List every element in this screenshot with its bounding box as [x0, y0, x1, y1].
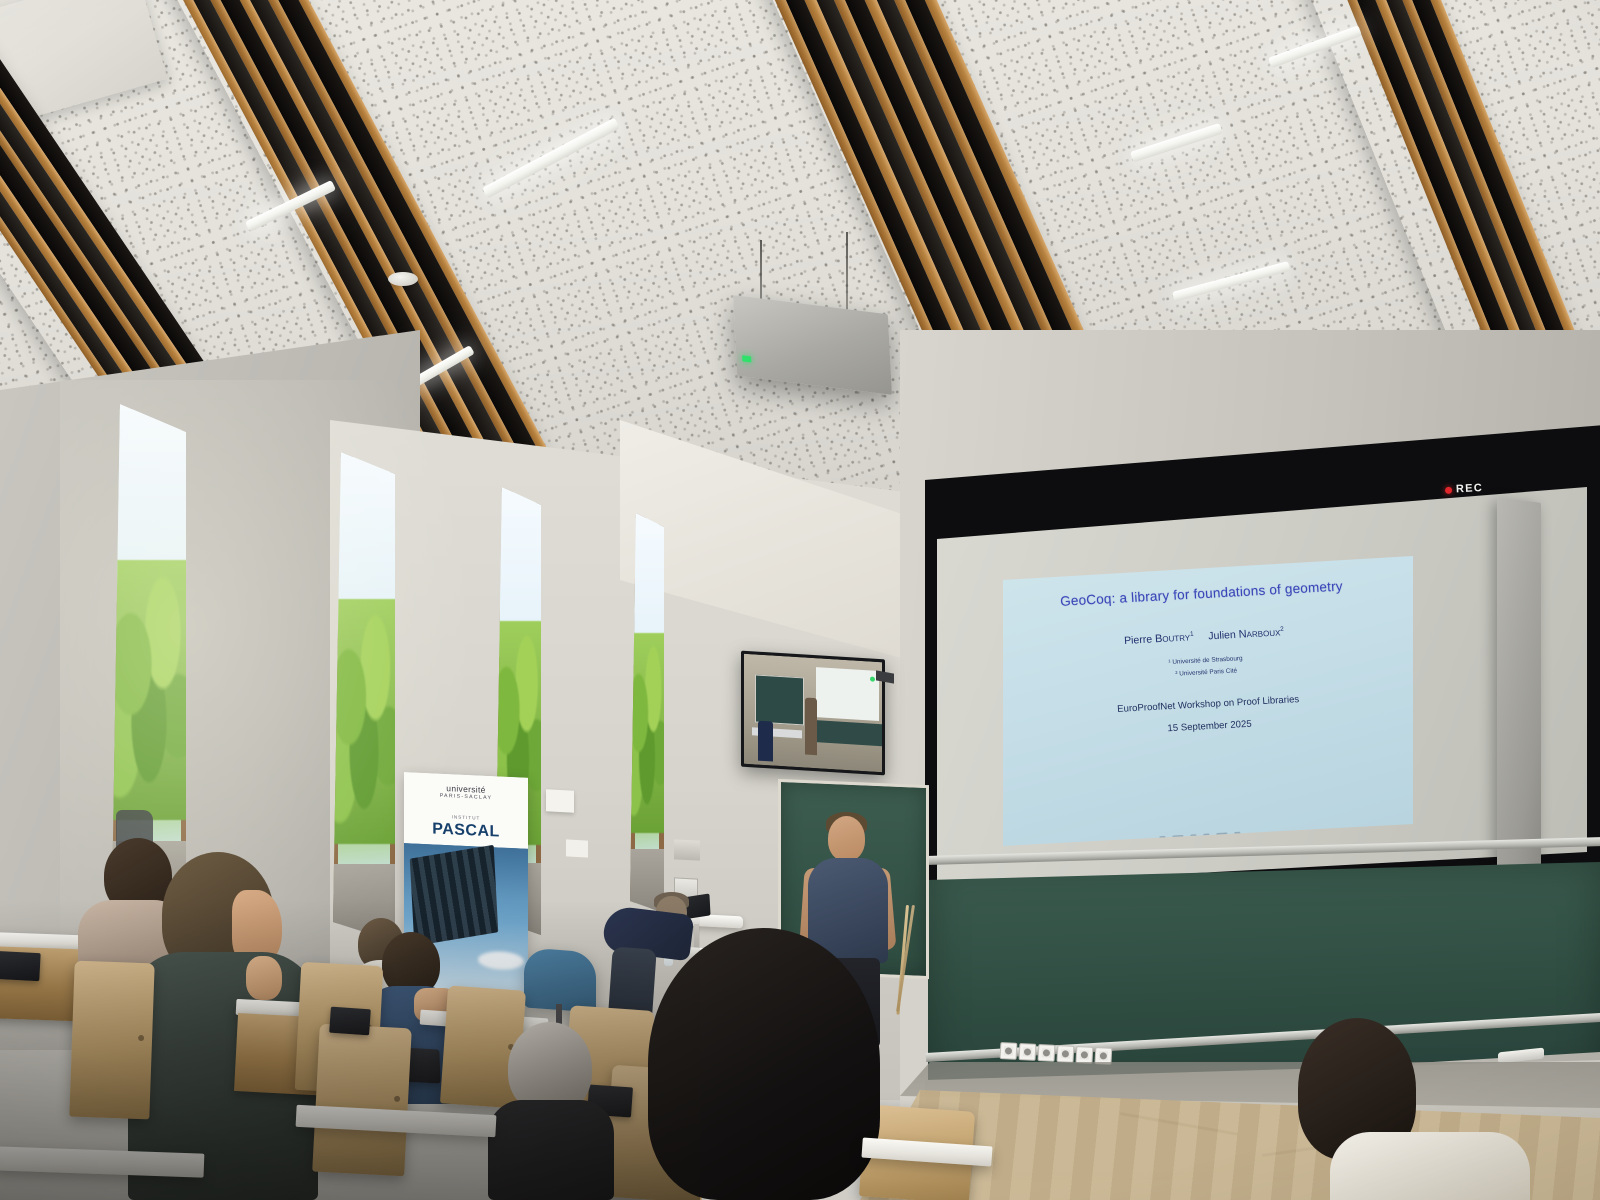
wall-socket[interactable] [1000, 1042, 1018, 1060]
monitor-feed-projection-screen [816, 667, 879, 721]
wall-notice-paper-2 [566, 839, 588, 857]
wall-socket[interactable] [1019, 1043, 1037, 1061]
speaker-status-led [742, 355, 751, 362]
window-foliage [112, 560, 186, 820]
presentation-slide: GeoCoq: a library for foundations of geo… [1003, 556, 1413, 846]
lecture-hall-photo: université PARIS-SACLAY INSTITUT PASCAL … [0, 0, 1600, 1200]
monitor-feed-speaker [805, 697, 817, 755]
column-speaker-right [1497, 497, 1541, 912]
presenter-head [828, 816, 865, 861]
slide-author-1-marker: 1 [1190, 631, 1194, 638]
record-label: REC [1456, 482, 1484, 495]
desk-equipment-box-2 [329, 1007, 371, 1036]
audience-member-g-body [1330, 1132, 1530, 1200]
monitor-feed-image [744, 654, 882, 772]
slide-author-1-last: Boutry [1155, 631, 1191, 645]
audience-member-e-body [488, 1100, 614, 1200]
monitor-feed-assistant [758, 721, 773, 762]
wall-socket[interactable] [1075, 1046, 1093, 1064]
window-4 [630, 513, 664, 913]
wall-socket[interactable] [1038, 1044, 1056, 1062]
wall-monitor-video-feed [741, 651, 885, 776]
slide-author-1-first: Pierre [1124, 633, 1153, 646]
desk-equipment-box-1 [0, 951, 41, 981]
seat-back-3 [312, 1024, 412, 1177]
audience-member-b-hand [246, 956, 282, 1000]
window-2 [333, 452, 395, 942]
seat-back-1 [69, 961, 154, 1120]
banner-photo-chairs [410, 845, 498, 946]
wall-socket[interactable] [1056, 1045, 1074, 1063]
wall-speaker-small [674, 839, 700, 860]
slide-affiliations: ¹ Université de Strasbourg ² Université … [1022, 645, 1389, 689]
monitor-feed-chalkboard [755, 674, 804, 725]
slide-author-2-first: Julien [1208, 629, 1236, 642]
recording-indicator: REC [1445, 482, 1484, 496]
blue-armchair [524, 947, 596, 1012]
audience-member-f-head [648, 928, 880, 1200]
slide-author-2-marker: 2 [1280, 626, 1284, 633]
banner-photo-cloud [478, 951, 524, 971]
wall-notice-paper-1 [546, 789, 574, 812]
monitor-feed-lower-board [816, 720, 882, 746]
record-dot-icon [1445, 486, 1452, 493]
slide-title: GeoCoq: a library for foundations of geo… [1018, 576, 1384, 611]
slide-author-2-last: Narboux [1238, 626, 1280, 640]
window-foliage [630, 633, 664, 833]
speaker-suspension-wire-right [846, 232, 848, 314]
smoke-detector-icon [388, 272, 418, 286]
window-foliage [333, 599, 395, 844]
